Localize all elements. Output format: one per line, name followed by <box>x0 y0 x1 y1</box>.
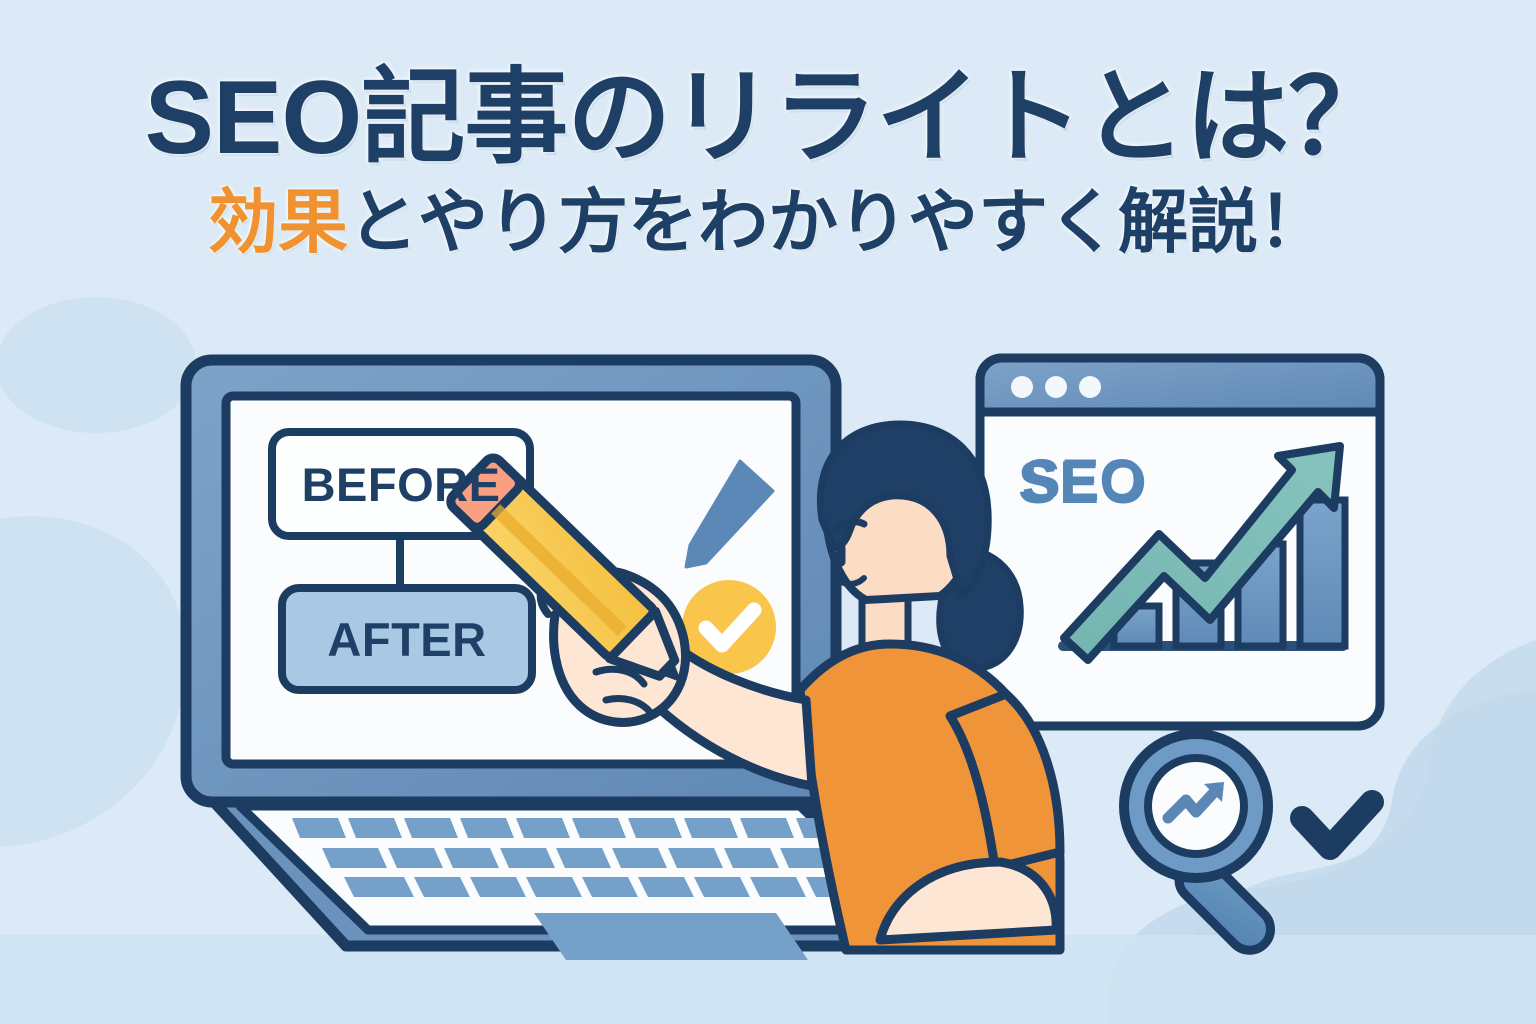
headline-block: SEO記事のリライトとは？ 効果とやり方をわかりやすく解説！ <box>0 62 1536 261</box>
key <box>404 818 458 838</box>
browser-seo-text-wrap: SEO <box>1018 448 1148 517</box>
browser-dot-3[interactable] <box>1079 376 1101 398</box>
browser-dot-2[interactable] <box>1045 376 1067 398</box>
key <box>444 848 499 868</box>
key <box>724 848 779 868</box>
headline-secondary-rest: とやり方をわかりやすく解説！ <box>348 183 1328 261</box>
headline-primary: SEO記事のリライトとは？ <box>0 62 1536 174</box>
headline-secondary: 効果とやり方をわかりやすく解説！ <box>0 184 1536 261</box>
after-label-wrap: AFTER <box>282 588 532 690</box>
key <box>292 818 346 838</box>
browser-seo-text: SEO <box>1018 449 1148 516</box>
browser-window: SEO <box>980 358 1380 726</box>
chart-bar-4 <box>1300 500 1345 646</box>
key <box>348 818 402 838</box>
magnifier-trend-icon <box>1124 734 1279 959</box>
key <box>388 848 443 868</box>
before-label: BEFORE <box>302 457 501 512</box>
key <box>668 848 723 868</box>
browser-titlebar <box>980 358 1380 412</box>
key <box>516 818 570 838</box>
after-label: AFTER <box>327 612 486 667</box>
key <box>572 818 626 838</box>
key <box>740 818 794 838</box>
key <box>344 877 414 897</box>
key <box>556 848 611 868</box>
key <box>628 818 682 838</box>
checkmark-icon <box>1302 802 1372 848</box>
key <box>460 818 514 838</box>
before-label-wrap: BEFORE <box>272 432 530 536</box>
laptop-trackpad-visible <box>534 913 808 960</box>
key <box>612 848 667 868</box>
key <box>684 818 738 838</box>
key <box>500 848 555 868</box>
headline-accent-word: 効果 <box>208 183 348 261</box>
browser-dot-1[interactable] <box>1011 376 1033 398</box>
key <box>322 848 387 868</box>
illustration-canvas: SEO記事のリライトとは？ 効果とやり方をわかりやすく解説！ <box>0 0 1536 1024</box>
